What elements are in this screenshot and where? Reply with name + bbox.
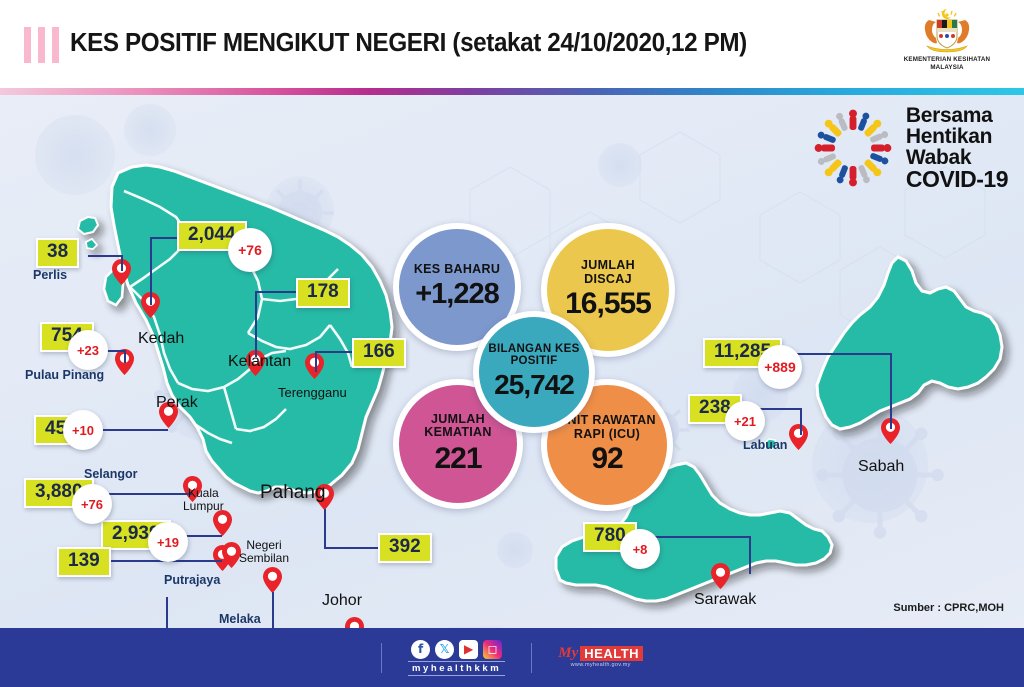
- facebook-icon[interactable]: f: [411, 640, 430, 659]
- map-label-johor: Johor: [322, 592, 362, 610]
- myhealth-health-text: HEALTH: [580, 646, 643, 661]
- infographic-root: KES POSITIF MENGIKUT NEGERI (setakat 24/…: [0, 0, 1024, 687]
- delta-kuala-lumpur[interactable]: +19: [148, 522, 188, 562]
- malaysia-coat-of-arms-icon: [915, 6, 979, 56]
- delta-sarawak[interactable]: +8: [620, 529, 660, 569]
- label-putrajaya: Putrajaya: [164, 573, 220, 587]
- map-label-perak: Perak: [156, 394, 198, 412]
- social-links[interactable]: f 𝕏 ▶ ◻ myhealthkkm: [408, 640, 505, 676]
- map-label-terengganu: Terengganu: [278, 385, 347, 400]
- label-pulau-pinang: Pulau Pinang: [25, 368, 104, 382]
- chip-terengganu[interactable]: 166: [352, 338, 406, 368]
- delta-selangor[interactable]: +76: [72, 484, 112, 524]
- map-label-pahang: Pahang: [260, 482, 326, 504]
- delta-perak[interactable]: +10: [63, 410, 103, 450]
- map-label-kedah: Kedah: [138, 330, 184, 348]
- youtube-icon[interactable]: ▶: [459, 640, 478, 659]
- stat-positif-label-2: POSITIF: [511, 355, 558, 367]
- footer-divider-left: [381, 643, 382, 673]
- campaign-line-4: COVID-19: [906, 168, 1008, 191]
- peninsular-malaysia: [78, 165, 392, 493]
- header-accent-bars-icon: [24, 27, 59, 63]
- chip-pahang[interactable]: 392: [378, 533, 432, 563]
- page-title: KES POSITIF MENGIKUT NEGERI (setakat 24/…: [70, 29, 747, 58]
- map-canvas: Kedah Perak Kelantan Terengganu Pahang J…: [0, 95, 1024, 628]
- map-label-kelantan: Kelantan: [228, 353, 291, 371]
- stat-jumlah-discaj-value: 16,555: [565, 287, 651, 321]
- source-note: Sumber : CPRC,MOH: [893, 602, 1004, 614]
- map-label-sabah: Sabah: [858, 458, 904, 476]
- campaign-logo: Bersama Hentikan Wabak COVID-19: [810, 105, 1008, 191]
- page-footer: f 𝕏 ▶ ◻ myhealthkkm My HEALTH www.myheal…: [0, 628, 1024, 687]
- label-melaka: Melaka: [219, 612, 261, 626]
- instagram-icon[interactable]: ◻: [483, 640, 502, 659]
- header-gradient-divider: [0, 88, 1024, 95]
- sabah-landmass: [817, 257, 1002, 429]
- stat-jumlah-kematian-label-1: JUMLAH: [431, 413, 485, 427]
- emblem-line-1: KEMENTERIAN KESIHATAN: [892, 56, 1002, 64]
- delta-sabah[interactable]: +889: [758, 345, 802, 389]
- stat-icu-label-2: RAPI (ICU): [574, 428, 640, 442]
- delta-labuan[interactable]: +21: [725, 401, 765, 441]
- ministry-emblem: KEMENTERIAN KESIHATAN MALAYSIA: [892, 6, 1002, 71]
- chip-kelantan[interactable]: 178: [296, 278, 350, 308]
- label-perlis: Perlis: [33, 268, 67, 282]
- stat-jumlah-kematian-label-2: KEMATIAN: [424, 426, 491, 440]
- map-label-negeri-sembilan: NegeriSembilan: [239, 539, 289, 564]
- people-circle-icon: [810, 105, 896, 191]
- emblem-line-2: MALAYSIA: [892, 64, 1002, 71]
- myhealth-logo[interactable]: My HEALTH www.myhealth.gov.my: [558, 646, 643, 669]
- stat-positif-label-1: BILANGAN KES: [488, 343, 579, 355]
- myhealth-url: www.myhealth.gov.my: [571, 663, 631, 669]
- campaign-line-3: Wabak: [906, 147, 1008, 168]
- social-handle: myhealthkkm: [408, 661, 505, 676]
- campaign-line-2: Hentikan: [906, 126, 1008, 147]
- delta-kedah[interactable]: +76: [228, 228, 272, 272]
- myhealth-my-text: My: [558, 646, 578, 661]
- stat-jumlah-discaj-label-2: DISCAJ: [584, 273, 632, 287]
- page-header: KES POSITIF MENGIKUT NEGERI (setakat 24/…: [0, 0, 1024, 88]
- delta-pulau-pinang[interactable]: +23: [68, 330, 108, 370]
- campaign-line-1: Bersama: [906, 105, 1008, 126]
- stat-positif-value: 25,742: [494, 369, 574, 401]
- stat-bilangan-kes-positif[interactable]: BILANGAN KES POSITIF 25,742: [473, 311, 595, 433]
- label-selangor: Selangor: [84, 467, 138, 481]
- stat-jumlah-kematian-value: 221: [434, 442, 481, 476]
- stat-kes-baharu-value: +1,228: [415, 278, 499, 311]
- chip-perlis[interactable]: 38: [36, 238, 79, 268]
- chip-putrajaya[interactable]: 139: [57, 547, 111, 577]
- stat-icu-value: 92: [591, 442, 622, 476]
- stat-jumlah-discaj-label-1: JUMLAH: [581, 259, 635, 273]
- twitter-icon[interactable]: 𝕏: [435, 640, 454, 659]
- footer-divider-right: [531, 643, 532, 673]
- stat-kes-baharu-label: KES BAHARU: [414, 263, 500, 277]
- map-label-kuala-lumpur: KualaLumpur: [183, 487, 224, 512]
- map-label-sarawak: Sarawak: [694, 591, 756, 609]
